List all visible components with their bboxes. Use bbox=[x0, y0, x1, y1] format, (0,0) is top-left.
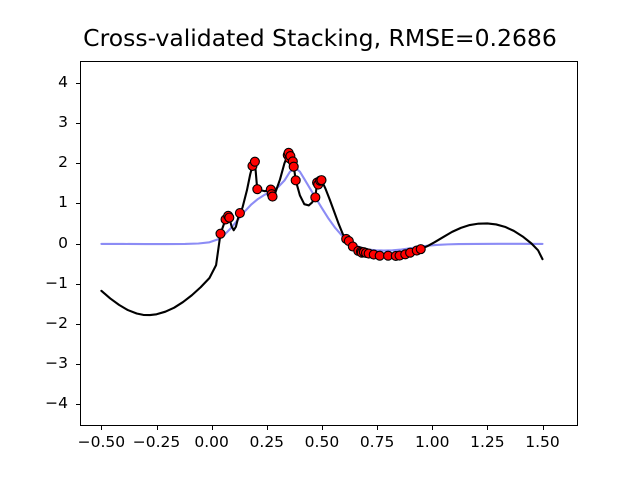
y-tick-label: 1 bbox=[10, 193, 68, 211]
data-point bbox=[250, 157, 259, 166]
y-tick-label: 4 bbox=[10, 73, 68, 91]
x-tick-mark bbox=[543, 426, 544, 430]
y-tick-mark bbox=[76, 244, 80, 245]
data-point bbox=[235, 209, 244, 218]
x-tick-mark bbox=[377, 426, 378, 430]
y-tick-label: 0 bbox=[10, 234, 68, 252]
matplotlib-figure: Cross-validated Stacking, RMSE=0.2686 −4… bbox=[0, 0, 640, 480]
x-tick-mark bbox=[212, 426, 213, 430]
data-point bbox=[291, 176, 300, 185]
plot-canvas bbox=[80, 61, 578, 426]
x-tick-mark bbox=[432, 426, 433, 430]
y-tick-mark bbox=[76, 163, 80, 164]
x-tick-mark bbox=[157, 426, 158, 430]
data-point bbox=[216, 229, 225, 238]
y-tick-mark bbox=[76, 324, 80, 325]
data-point bbox=[268, 192, 277, 201]
y-tick-mark bbox=[76, 83, 80, 84]
y-tick-label: 3 bbox=[10, 113, 68, 131]
x-tick-label: 1.50 bbox=[502, 433, 582, 451]
x-tick-mark bbox=[101, 426, 102, 430]
y-tick-label: −2 bbox=[10, 314, 68, 332]
data-point bbox=[225, 213, 234, 222]
y-tick-mark bbox=[76, 203, 80, 204]
y-tick-mark bbox=[76, 404, 80, 405]
y-tick-label: 2 bbox=[10, 153, 68, 171]
data-point bbox=[375, 251, 384, 260]
y-tick-label: −3 bbox=[10, 354, 68, 372]
x-tick-mark bbox=[267, 426, 268, 430]
x-tick-mark bbox=[322, 426, 323, 430]
data-point bbox=[253, 185, 262, 194]
x-tick-mark bbox=[487, 426, 488, 430]
data-point bbox=[416, 245, 425, 254]
y-tick-label: −1 bbox=[10, 274, 68, 292]
y-tick-mark bbox=[76, 123, 80, 124]
data-point bbox=[317, 176, 326, 185]
data-point bbox=[289, 162, 298, 171]
y-tick-mark bbox=[76, 364, 80, 365]
plot-area bbox=[80, 61, 578, 426]
data-point bbox=[311, 193, 320, 202]
page-title: Cross-validated Stacking, RMSE=0.2686 bbox=[0, 26, 640, 52]
y-tick-label: −4 bbox=[10, 394, 68, 412]
y-tick-mark bbox=[76, 284, 80, 285]
